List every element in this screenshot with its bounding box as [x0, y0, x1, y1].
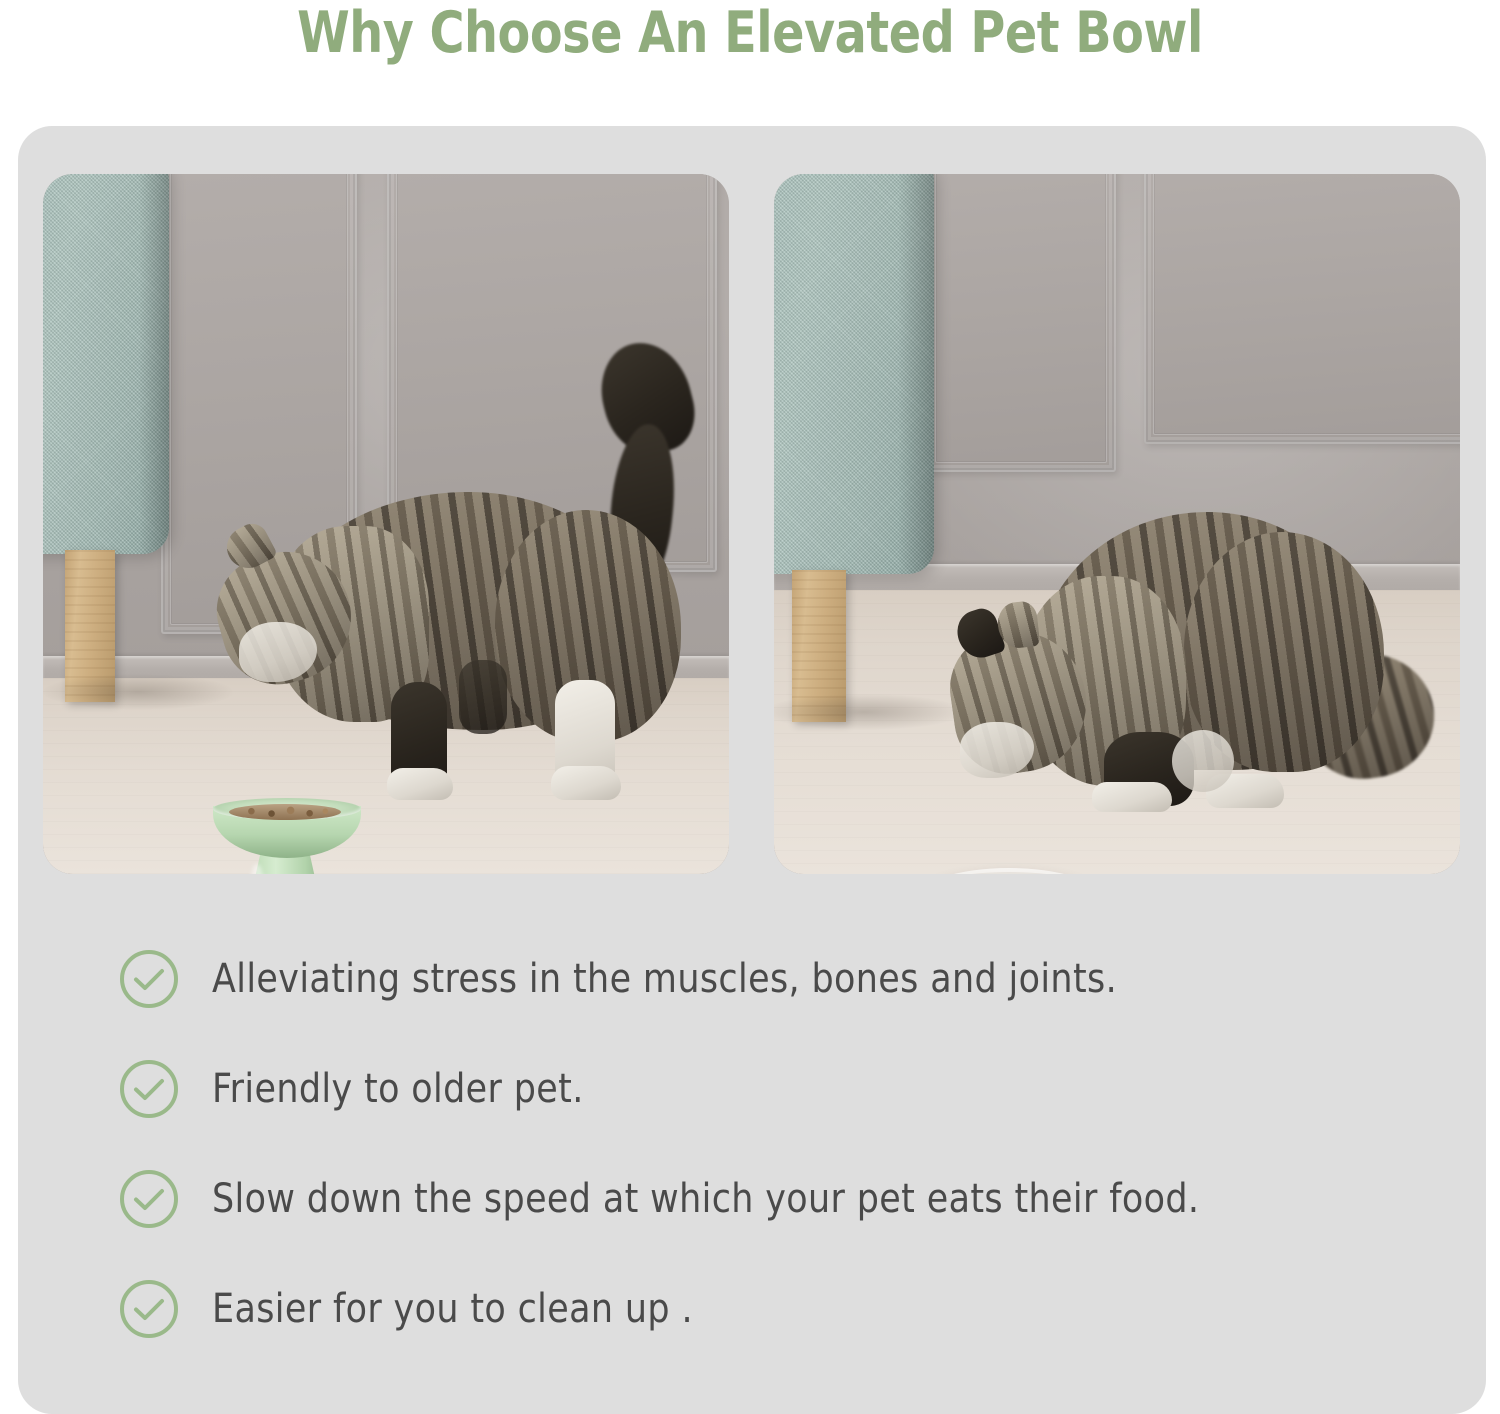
bowl-food — [229, 804, 341, 820]
cat-back-paw — [551, 766, 621, 800]
page-title: Why Choose An Elevated Pet Bowl — [53, 0, 1448, 72]
list-item: Alleviating stress in the muscles, bones… — [118, 924, 1448, 1034]
sofa-body — [774, 174, 934, 574]
list-item: Slow down the speed at which your pet ea… — [118, 1144, 1448, 1254]
cat-belly-shadow — [459, 660, 507, 734]
feature-text: Friendly to older pet. — [212, 1067, 584, 1111]
check-circle-icon — [118, 1168, 180, 1230]
cat-front-paw — [1092, 782, 1172, 812]
sofa-edge-shading — [898, 174, 934, 574]
feature-text: Easier for you to clean up . — [212, 1287, 693, 1331]
sofa-edge-shading — [139, 174, 169, 554]
list-item: Friendly to older pet. — [118, 1034, 1448, 1144]
elevated-bowl-photo — [43, 174, 729, 874]
cat-front-paw — [387, 768, 453, 800]
check-circle-icon — [118, 1278, 180, 1340]
wall-panel-left — [926, 174, 1116, 472]
feature-list: Alleviating stress in the muscles, bones… — [118, 924, 1448, 1364]
sofa-floor-shadow — [43, 674, 233, 710]
check-circle-icon — [118, 948, 180, 1010]
feature-text: Alleviating stress in the muscles, bones… — [212, 957, 1117, 1001]
check-circle-icon — [118, 1058, 180, 1120]
list-item: Easier for you to clean up . — [118, 1254, 1448, 1364]
sofa-body — [43, 174, 169, 554]
comparison-photo-row — [43, 174, 1461, 874]
feature-text: Slow down the speed at which your pet ea… — [212, 1177, 1199, 1221]
flat-bowl-photo — [774, 174, 1460, 874]
wall-panel-right — [1144, 174, 1460, 444]
feature-card: Alleviating stress in the muscles, bones… — [18, 126, 1486, 1414]
cat-belly-white — [1172, 730, 1234, 792]
